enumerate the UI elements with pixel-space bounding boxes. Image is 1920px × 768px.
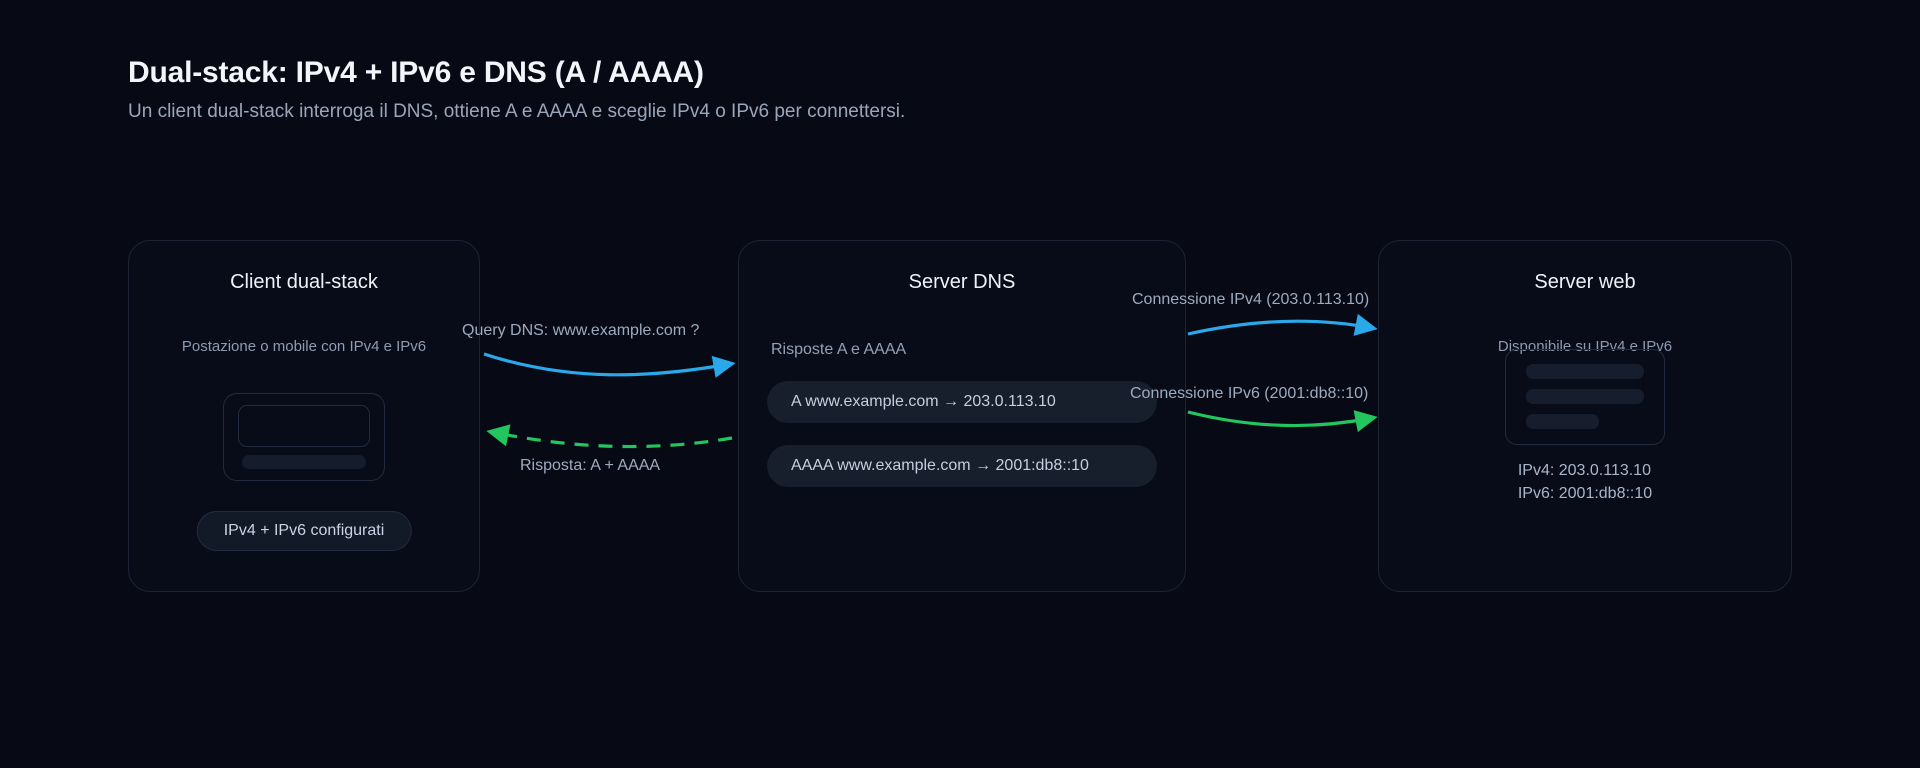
client-badge[interactable]: IPv4 + IPv6 configurati bbox=[197, 511, 412, 551]
arrow-query-dns bbox=[484, 354, 730, 375]
edge-label-query: Query DNS: www.example.com ? bbox=[462, 322, 699, 340]
server-bar-icon bbox=[1526, 389, 1644, 404]
page-subtitle: Un client dual-stack interroga il DNS, o… bbox=[128, 101, 1528, 124]
panel-web-server[interactable]: Server web Disponibile su IPv4 e IPv6 IP… bbox=[1378, 240, 1792, 592]
dns-record-aaaa[interactable]: AAAA www.example.com → 2001:db8::10 bbox=[767, 445, 1157, 487]
page-title: Dual-stack: IPv4 + IPv6 e DNS (A / AAAA) bbox=[128, 56, 1528, 89]
diagram-canvas: Dual-stack: IPv4 + IPv6 e DNS (A / AAAA)… bbox=[0, 0, 1920, 768]
arrow-connection-ipv6 bbox=[1188, 412, 1372, 426]
server-bar-icon bbox=[1526, 364, 1644, 379]
device-base-icon bbox=[242, 455, 366, 469]
arrow-dns-response bbox=[492, 432, 732, 447]
dns-records-label: Risposte A e AAAA bbox=[771, 341, 906, 359]
web-ipv4-value: IPv4: 203.0.113.10 bbox=[1518, 459, 1652, 482]
web-ipv6-value: IPv6: 2001:db8::10 bbox=[1518, 482, 1652, 505]
web-ip-list: IPv4: 203.0.113.10 IPv6: 2001:db8::10 bbox=[1518, 459, 1652, 505]
web-title: Server web bbox=[1379, 271, 1791, 294]
edge-label-connection-ipv4: Connessione IPv4 (203.0.113.10) bbox=[1132, 291, 1369, 309]
device-screen-icon bbox=[238, 405, 370, 447]
panel-client[interactable]: Client dual-stack Postazione o mobile co… bbox=[128, 240, 480, 592]
edge-label-response: Risposta: A + AAAA bbox=[520, 457, 660, 475]
dns-record-a[interactable]: A www.example.com → 203.0.113.10 bbox=[767, 381, 1157, 423]
panel-dns-server[interactable]: Server DNS Risposte A e AAAA A www.examp… bbox=[738, 240, 1186, 592]
client-device-icon bbox=[223, 393, 385, 481]
server-bar-icon bbox=[1526, 414, 1599, 429]
arrow-connection-ipv4 bbox=[1188, 321, 1372, 334]
heading-block: Dual-stack: IPv4 + IPv6 e DNS (A / AAAA)… bbox=[128, 56, 1528, 124]
edge-label-connection-ipv6: Connessione IPv6 (2001:db8::10) bbox=[1130, 385, 1368, 403]
client-title: Client dual-stack bbox=[129, 271, 479, 294]
server-rack-icon bbox=[1505, 349, 1665, 445]
client-subtitle: Postazione o mobile con IPv4 e IPv6 bbox=[129, 338, 479, 355]
dns-title: Server DNS bbox=[739, 271, 1185, 294]
